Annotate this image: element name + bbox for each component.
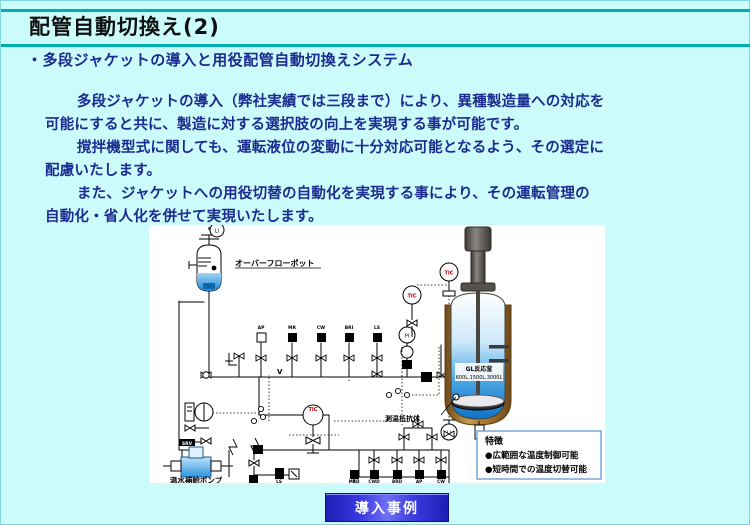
svg-text:TIC: TIC — [445, 271, 454, 277]
tap-label-ls: LS — [374, 325, 380, 331]
tap-label-mr: MR — [288, 325, 296, 331]
mid-flow-valves — [249, 438, 299, 483]
legend-heading: 特徴 — [485, 435, 504, 447]
body-line-4: 配慮いたします。 — [45, 160, 721, 183]
tic-instrument-top: TIC — [440, 263, 458, 296]
body-line-3: 撹拌機型式に関しても、運転液位の変動に十分対応可能となるよう、その選定に — [45, 137, 721, 160]
process-flow-diagram: LI オーバーフローポット AP MR CW BRI LS — [149, 225, 605, 483]
hot-water-supply-pump: 温水補給ポンプ — [163, 447, 233, 483]
diagram-legend: 特徴 ●広範囲な温度制御可能 ●短時間での温度切替可能 — [477, 431, 601, 479]
svg-text:MRD: MRD — [349, 479, 360, 483]
legend-item-2: ●短時間での温度切替可能 — [485, 463, 587, 475]
svg-text:CWD: CWD — [368, 479, 380, 483]
body-line-1: 多段ジャケットの導入（弊社実績では三段まで）により、異種製造量への対応を — [45, 91, 721, 114]
svg-text:AP: AP — [416, 479, 422, 483]
pump-label: 温水補給ポンプ — [170, 475, 223, 483]
srv-tag: SRV — [182, 441, 193, 447]
slide-root: 配管自動切換え(2) ・多段ジャケットの導入と用役配管自動切換えシステム 多段ジ… — [0, 0, 750, 525]
gl-reactor-vessel: GL反応釜 600L,1500L,3000L — [441, 227, 511, 425]
svg-text:BRD: BRD — [392, 479, 402, 483]
svg-text:TIC: TIC — [309, 407, 318, 413]
tap-label-cw: CW — [317, 325, 325, 331]
body-text: 多段ジャケットの導入（弊社実績では三段まで）により、異種製造量への対応を 可能に… — [45, 91, 721, 229]
level-switch-block: LS — [275, 468, 284, 483]
branch-label-v: V — [277, 368, 283, 376]
svg-text:TIC: TIC — [408, 294, 417, 300]
legend-item-1: ●広範囲な温度制御可能 — [485, 449, 579, 461]
header-service-taps: AP MR CW BRI LS — [257, 325, 382, 342]
header-rule-bottom — [1, 44, 750, 47]
reactor-capacity-label: 600L,1500L,3000L — [456, 375, 503, 381]
page-title: 配管自動切換え(2) — [29, 12, 220, 42]
signal-lines — [209, 285, 449, 435]
rtd-label: 測温抵抗体 — [385, 414, 421, 423]
svg-text:LI: LI — [215, 229, 219, 235]
case-study-button[interactable]: 導入事例 — [325, 493, 449, 522]
reactor-name-label: GL反応釜 — [466, 365, 494, 373]
svg-text:CW: CW — [437, 479, 445, 483]
pressure-indicator: PI — [399, 327, 415, 369]
body-line-2: 可能にすると共に、製造に対する選択肢の向上を実現する事が可能です。 — [45, 114, 721, 137]
tap-label-bri: BRI — [345, 325, 354, 331]
tap-label-ap: AP — [258, 325, 265, 331]
overflow-pot-label: オーバーフローポット — [235, 258, 314, 268]
svg-text:LS: LS — [276, 479, 282, 483]
svg-text:PI: PI — [405, 334, 410, 340]
body-line-5: また、ジャケットへの用役切替の自動化を実現する事により、その運転管理の — [45, 183, 721, 206]
section-bullet: ・多段ジャケットの導入と用役配管自動切換えシステム — [27, 49, 413, 70]
block-valve-main — [421, 372, 432, 382]
tic-instrument-mid: TIC — [303, 405, 323, 453]
overflow-pot: LI オーバーフローポット — [189, 225, 321, 377]
